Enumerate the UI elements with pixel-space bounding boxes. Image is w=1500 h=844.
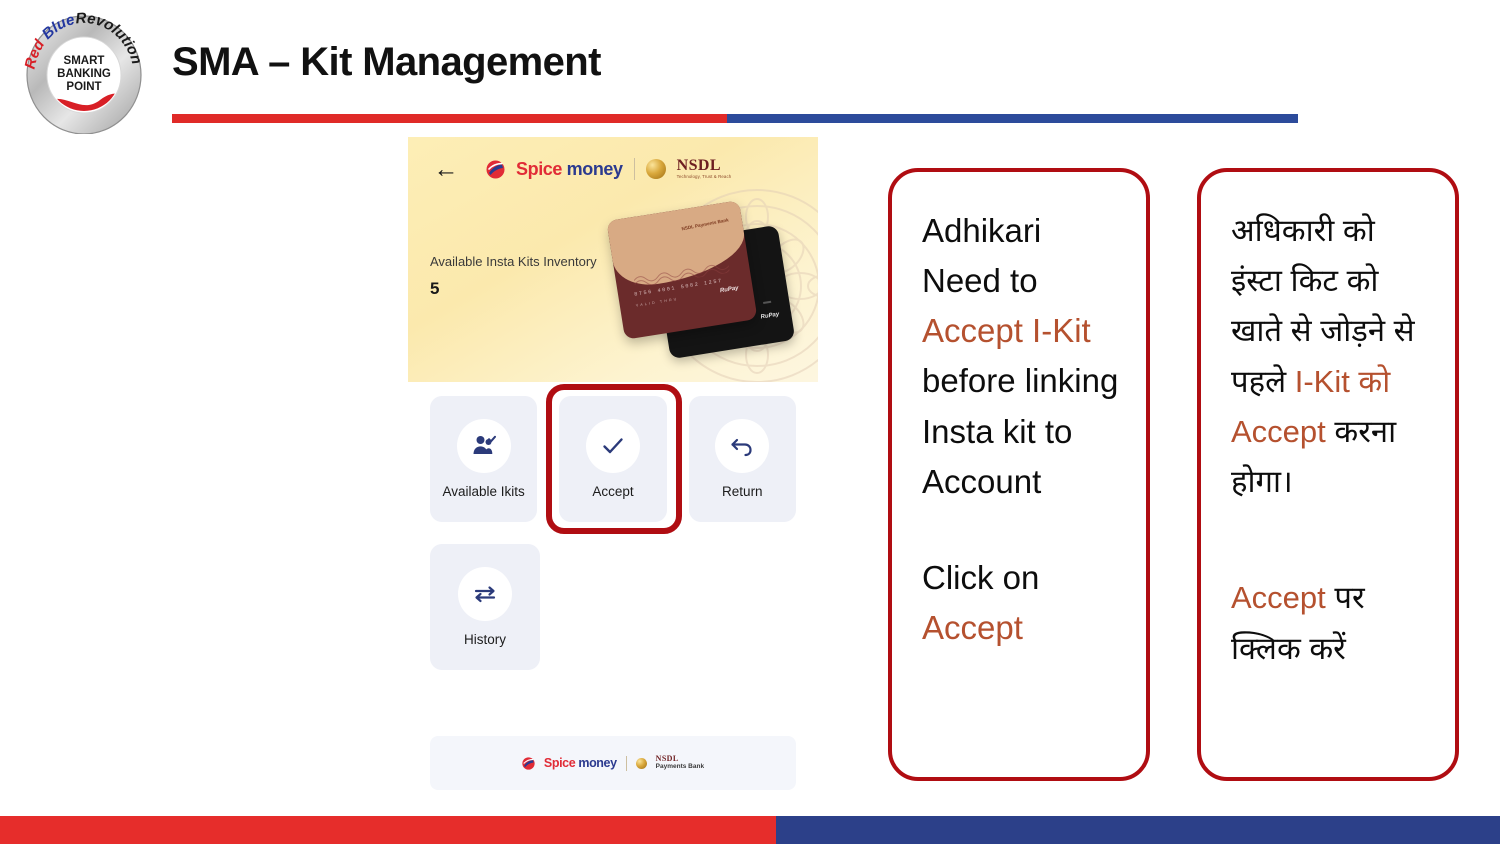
tile-label-accept: Accept — [592, 484, 633, 499]
rupay-logo-maroon: RuPay — [720, 285, 739, 294]
callout-english-paragraph-2: Click on Accept — [922, 553, 1124, 653]
nsdl-logo-icon-footer — [636, 758, 647, 769]
svg-text:BANKING: BANKING — [57, 68, 111, 80]
callout-hindi-paragraph-1: अधिकारी को इंस्टा किट को खाते से जोड़ने … — [1231, 206, 1433, 507]
callout-en-text-2: before linking Insta kit to Account — [922, 362, 1118, 499]
callout-box-hindi: अधिकारी को इंस्टा किट को खाते से जोड़ने … — [1197, 168, 1459, 781]
people-check-icon — [457, 419, 511, 473]
action-tile-grid-row-2: History — [430, 544, 796, 670]
nsdl-wordmark: NSDL Technology, Trust & Reach — [677, 158, 732, 179]
card-meta: VALID THRU — [636, 297, 679, 308]
title-divider-rule — [172, 114, 1298, 123]
spice-money-logo-icon-footer — [522, 757, 535, 770]
callout-en-text-3: Click on — [922, 559, 1039, 596]
page-title: SMA – Kit Management — [172, 40, 601, 85]
tile-accept[interactable]: Accept — [559, 396, 666, 522]
brand-separator-footer — [626, 756, 627, 771]
spice-money-wordmark: Spice money — [516, 160, 623, 178]
brand-separator — [634, 158, 635, 180]
callout-english-paragraph-1: Adhikari Need to Accept I-Kit before lin… — [922, 206, 1124, 507]
footer-red-segment — [0, 816, 776, 844]
app-hero-section: ← Spice money NSDL Technology, Trust & R… — [408, 137, 818, 382]
callout-en-accent-2: Accept — [922, 609, 1023, 646]
card-chip — [763, 301, 771, 304]
spice-money-wordmark-footer: Spice money — [544, 757, 617, 770]
app-screenshot-mockup: ← Spice money NSDL Technology, Trust & R… — [408, 137, 818, 800]
callout-hi-accent-2: Accept — [1231, 580, 1326, 615]
footer-blue-segment — [776, 816, 1500, 844]
callout-en-spacer — [922, 507, 1124, 553]
nsdl-logo-icon — [646, 159, 666, 179]
slide-header: Red Blue Revolution SMART BANKING POINT … — [0, 0, 1500, 136]
nsdl-payments-bank-wordmark: NSDL Payments Bank — [656, 755, 704, 771]
tile-label-available-ikits: Available Ikits — [443, 484, 525, 499]
inventory-count: 5 — [430, 279, 439, 299]
back-arrow-icon[interactable]: ← — [430, 156, 462, 182]
tile-history[interactable]: History — [430, 544, 540, 670]
tile-available-ikits[interactable]: Available Ikits — [430, 396, 537, 522]
callout-hindi-paragraph-2: Accept पर क्लिक करें — [1231, 573, 1433, 673]
kit-card-maroon: NSDL Payments Bank 8756 4001 5082 1257 V… — [606, 200, 757, 339]
callout-hi-spacer — [1231, 507, 1433, 573]
return-arrow-icon — [715, 419, 769, 473]
title-rule-red-segment — [172, 114, 727, 123]
svg-text:SMART: SMART — [64, 55, 105, 67]
tile-return[interactable]: Return — [689, 396, 796, 522]
checkmark-icon — [586, 419, 640, 473]
inventory-label: Available Insta Kits Inventory — [430, 254, 597, 269]
callout-box-english: Adhikari Need to Accept I-Kit before lin… — [888, 168, 1150, 781]
kit-cards-illustration: RuPay NSDL Payments Bank 8756 4001 5082 … — [613, 192, 803, 372]
tile-label-history: History — [464, 632, 506, 647]
app-brand-bar: Spice money NSDL Technology, Trust & Rea… — [486, 154, 731, 184]
slide-footer-bar — [0, 816, 1500, 844]
callout-en-text-1: Adhikari Need to — [922, 212, 1041, 299]
callout-en-accent-1: Accept I-Kit — [922, 312, 1091, 349]
rupay-logo-black: RuPay — [760, 312, 779, 321]
tile-label-return: Return — [722, 484, 763, 499]
app-footer-branding: Spice money NSDL Payments Bank — [430, 736, 796, 790]
brand-logo: Red Blue Revolution SMART BANKING POINT — [18, 12, 150, 134]
svg-text:POINT: POINT — [66, 81, 101, 93]
action-tile-grid: Available Ikits Accept Ret — [430, 396, 796, 522]
app-body: Available Ikits Accept Ret — [408, 382, 818, 800]
exchange-arrows-icon — [458, 567, 512, 621]
spice-money-logo-icon — [486, 160, 505, 179]
title-rule-blue-segment — [727, 114, 1298, 123]
